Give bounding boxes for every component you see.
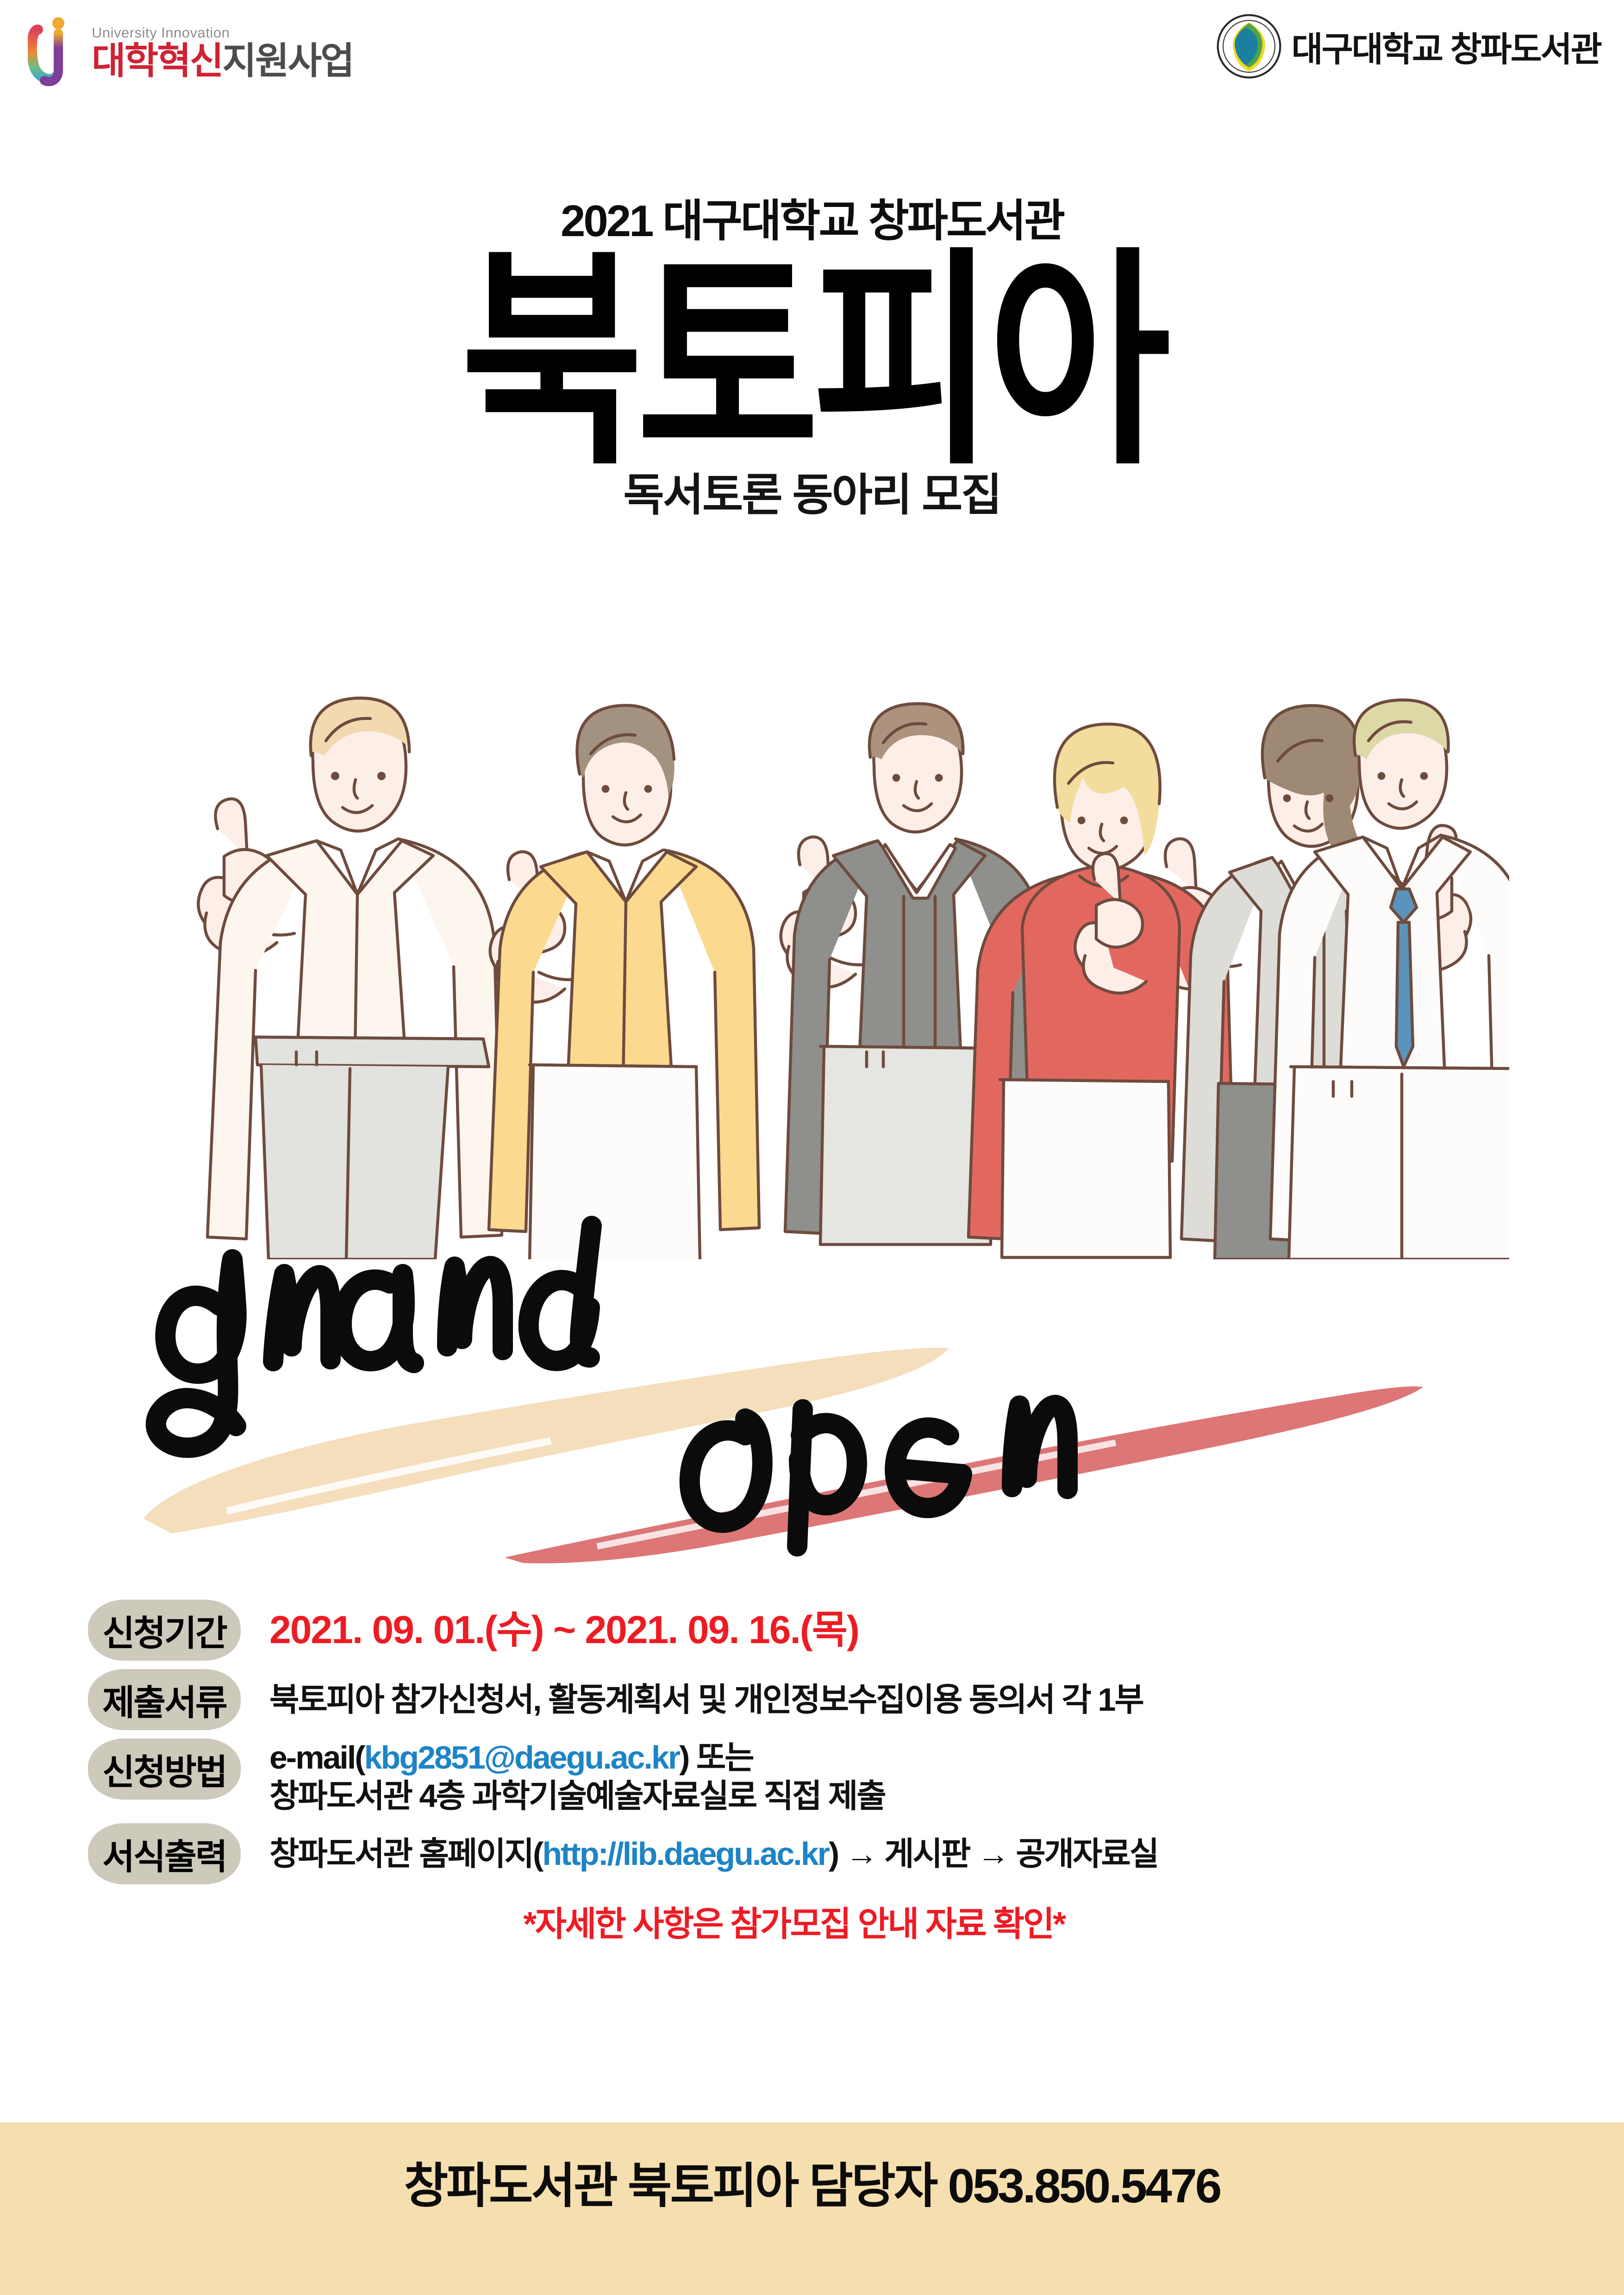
label-form-download: 서식출력 — [88, 1823, 241, 1884]
form-download-line: 창파도서관 홈페이지(http://lib.daegu.ac.kr) → 게시판… — [269, 1835, 1560, 1873]
contact-banner-text: 창파도서관 북토피아 담당자 053.850.5476 — [404, 2146, 1220, 2216]
required-documents-text: 북토피아 참가신청서, 활동계획서 및 개인정보수집이용 동의서 각 1부 — [269, 1681, 1560, 1719]
label-required-documents: 제출서류 — [88, 1669, 241, 1730]
daegu-library-logo: 대구대학교 창파도서관 — [1217, 14, 1601, 79]
uj-logo-kor-gray: 지원사업 — [222, 40, 353, 81]
info-row-form-download: 서식출력 창파도서관 홈페이지(http://lib.daegu.ac.kr) … — [88, 1823, 1560, 1884]
email-suffix: ) 또는 — [679, 1739, 753, 1776]
uj-logo-text: University Innovation 대학혁신지원사업 — [92, 25, 353, 80]
page-title: 북토피아 — [0, 256, 1624, 469]
uj-logo-icon — [28, 13, 83, 92]
application-method-line-1: e-mail(kbg2851@daegu.ac.kr) 또는 — [269, 1738, 1560, 1777]
application-period-dates: 2021. 09. 01.(수) ~ 2021. 09. 16.(목) — [269, 1607, 1560, 1653]
value-required-documents: 북토피아 참가신청서, 활동계획서 및 개인정보수집이용 동의서 각 1부 — [241, 1669, 1560, 1730]
value-form-download: 창파도서관 홈페이지(http://lib.daegu.ac.kr) → 게시판… — [241, 1823, 1560, 1884]
contact-banner: 창파도서관 북토피아 담당자 053.850.5476 — [0, 2122, 1624, 2295]
daegu-library-name: 대구대학교 창파도서관 — [1292, 22, 1601, 71]
footnote-text: *자세한 사항은 참가모집 안내 자료 확인* — [88, 1896, 1560, 1946]
label-application-period: 신청기간 — [88, 1600, 241, 1661]
label-application-method: 신청방법 — [88, 1738, 241, 1800]
uj-logo-eng-label: University Innovation — [92, 25, 353, 40]
uj-logo-kor-label: 대학혁신지원사업 — [92, 43, 353, 80]
title-block: 2021 대구대학교 창파도서관 북토피아 독서토론 동아리 모집 — [0, 199, 1624, 518]
uj-logo-kor-red: 대학혁신 — [92, 40, 222, 81]
info-table: 신청기간 2021. 09. 01.(수) ~ 2021. 09. 16.(목)… — [88, 1600, 1560, 1946]
homepage-link[interactable]: http://lib.daegu.ac.kr — [542, 1836, 829, 1872]
email-prefix: e-mail( — [269, 1739, 364, 1776]
email-link[interactable]: kbg2851@daegu.ac.kr — [364, 1739, 680, 1776]
grand-open-artwork — [116, 1148, 1528, 1565]
university-innovation-logo: University Innovation 대학혁신지원사업 — [28, 13, 353, 92]
application-method-line-2: 창파도서관 4층 과학기술예술자료실로 직접 제출 — [269, 1777, 1560, 1815]
info-row-required-documents: 제출서류 북토피아 참가신청서, 활동계획서 및 개인정보수집이용 동의서 각 … — [88, 1669, 1560, 1730]
info-row-application-method: 신청방법 e-mail(kbg2851@daegu.ac.kr) 또는 창파도서… — [88, 1738, 1560, 1815]
value-application-period: 2021. 09. 01.(수) ~ 2021. 09. 16.(목) — [241, 1600, 1560, 1661]
homepage-path-suffix: ) → 게시판 → 공개자료실 — [829, 1836, 1158, 1872]
value-application-method: e-mail(kbg2851@daegu.ac.kr) 또는 창파도서관 4층 … — [241, 1738, 1560, 1815]
poster-canvas: University Innovation 대학혁신지원사업 대구대학교 창파도… — [0, 0, 1624, 2295]
info-row-application-period: 신청기간 2021. 09. 01.(수) ~ 2021. 09. 16.(목) — [88, 1600, 1560, 1661]
daegu-university-seal-icon — [1217, 14, 1281, 79]
homepage-prefix: 창파도서관 홈페이지( — [269, 1836, 542, 1872]
